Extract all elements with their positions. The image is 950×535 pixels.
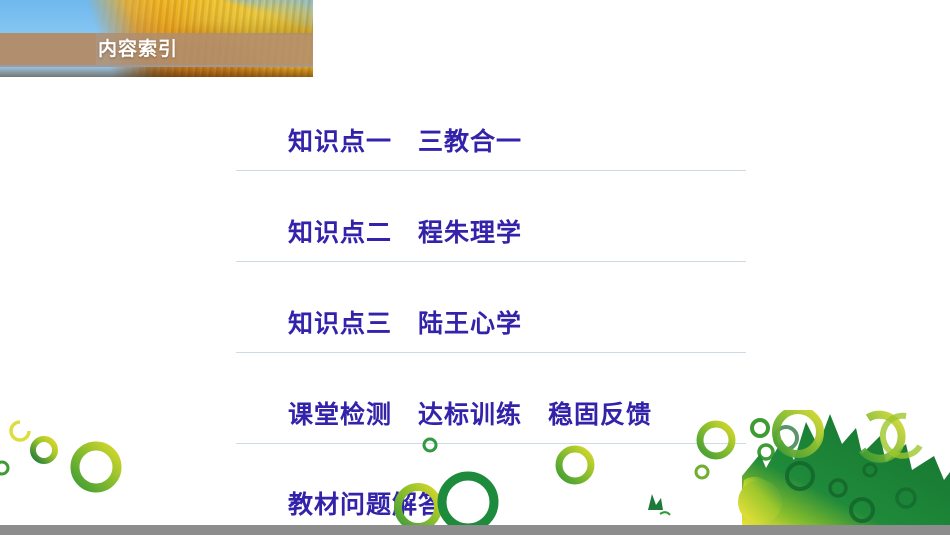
treeline-shadow <box>69 0 313 35</box>
content-index-list: 知识点一 三教合一 知识点二 程朱理学 知识点三 陆王心学 课堂检测 达标训练 … <box>236 108 746 534</box>
index-item-label: 知识点一 三教合一 <box>236 108 746 170</box>
header-banner: 内容索引 <box>0 0 313 77</box>
bottom-strip <box>0 525 950 535</box>
index-item-3[interactable]: 知识点三 陆王心学 <box>236 290 746 353</box>
index-item-label: 知识点三 陆王心学 <box>236 290 746 352</box>
index-item-4[interactable]: 课堂检测 达标训练 稳固反馈 <box>236 381 746 444</box>
index-item-label: 教材问题解答 <box>236 471 746 533</box>
decor-rings-left <box>0 422 117 488</box>
band-left-fill <box>0 33 96 65</box>
maple-leaf-graphic <box>738 410 950 525</box>
index-item-1[interactable]: 知识点一 三教合一 <box>236 108 746 171</box>
index-item-2[interactable]: 知识点二 程朱理学 <box>236 199 746 262</box>
presentation-slide: 内容索引 知识点一 三教合一 知识点二 程朱理学 知识点三 陆王心学 课堂检测 … <box>0 0 950 535</box>
page-title: 内容索引 <box>98 40 178 59</box>
index-item-label: 课堂检测 达标训练 稳固反馈 <box>236 381 746 443</box>
banner-title-band: 内容索引 <box>0 33 313 67</box>
index-item-label: 知识点二 程朱理学 <box>236 199 746 261</box>
